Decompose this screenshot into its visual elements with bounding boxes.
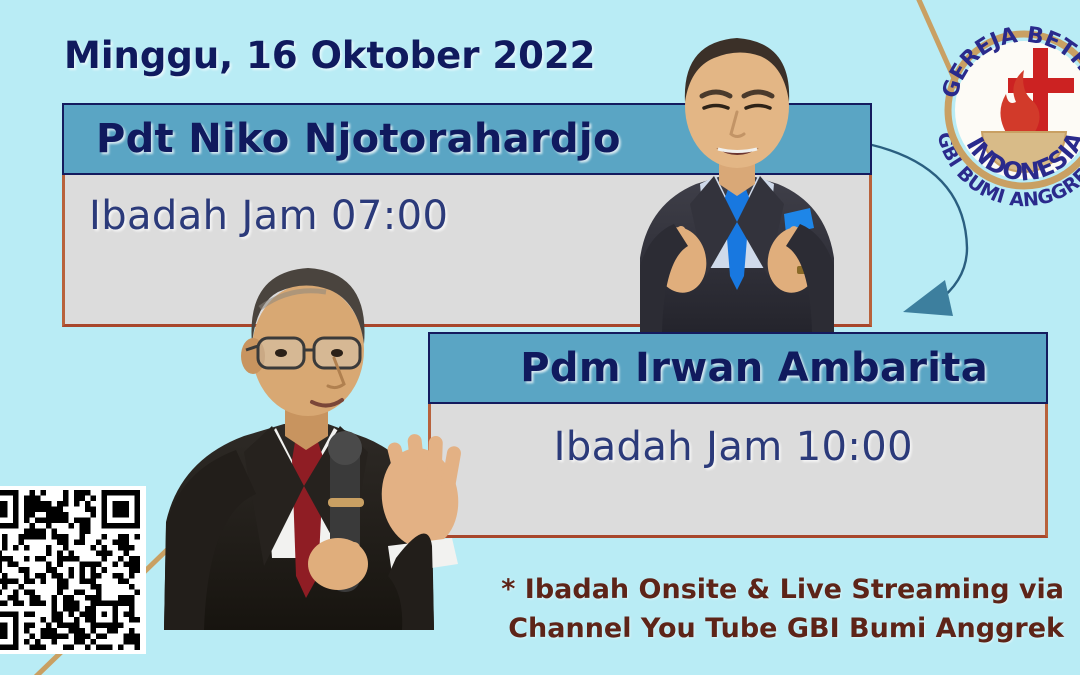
service-date: Minggu, 16 Oktober 2022	[64, 34, 595, 77]
qr-code[interactable]	[0, 486, 146, 654]
speaker-name-second: Pdm Irwan Ambarita	[520, 345, 988, 391]
speaker-name-banner-second: Pdm Irwan Ambarita	[428, 332, 1048, 404]
service-time-panel-second: Ibadah Jam 10:00	[428, 404, 1048, 538]
service-announcement-poster: Minggu, 16 Oktober 2022 Pdt Niko Njotora…	[0, 0, 1080, 675]
streaming-note: * Ibadah Onsite & Live Streaming via Cha…	[464, 570, 1064, 648]
speaker-photo-second	[152, 246, 492, 630]
service-card-second: Pdm Irwan Ambarita Ibadah Jam 10:00	[428, 332, 1048, 538]
streaming-note-line-2: Channel You Tube GBI Bumi Anggrek	[464, 609, 1064, 648]
speaker-name-first: Pdt Niko Njotorahardjo	[96, 116, 621, 162]
church-logo: GBI BUMI ANGGREK GEREJA BETHEL INDONESIA	[934, 6, 1080, 224]
service-time-second: Ibadah Jam 10:00	[554, 424, 913, 470]
service-time-first: Ibadah Jam 07:00	[89, 193, 448, 239]
streaming-note-line-1: * Ibadah Onsite & Live Streaming via	[464, 570, 1064, 609]
speaker-photo-first	[578, 8, 896, 333]
